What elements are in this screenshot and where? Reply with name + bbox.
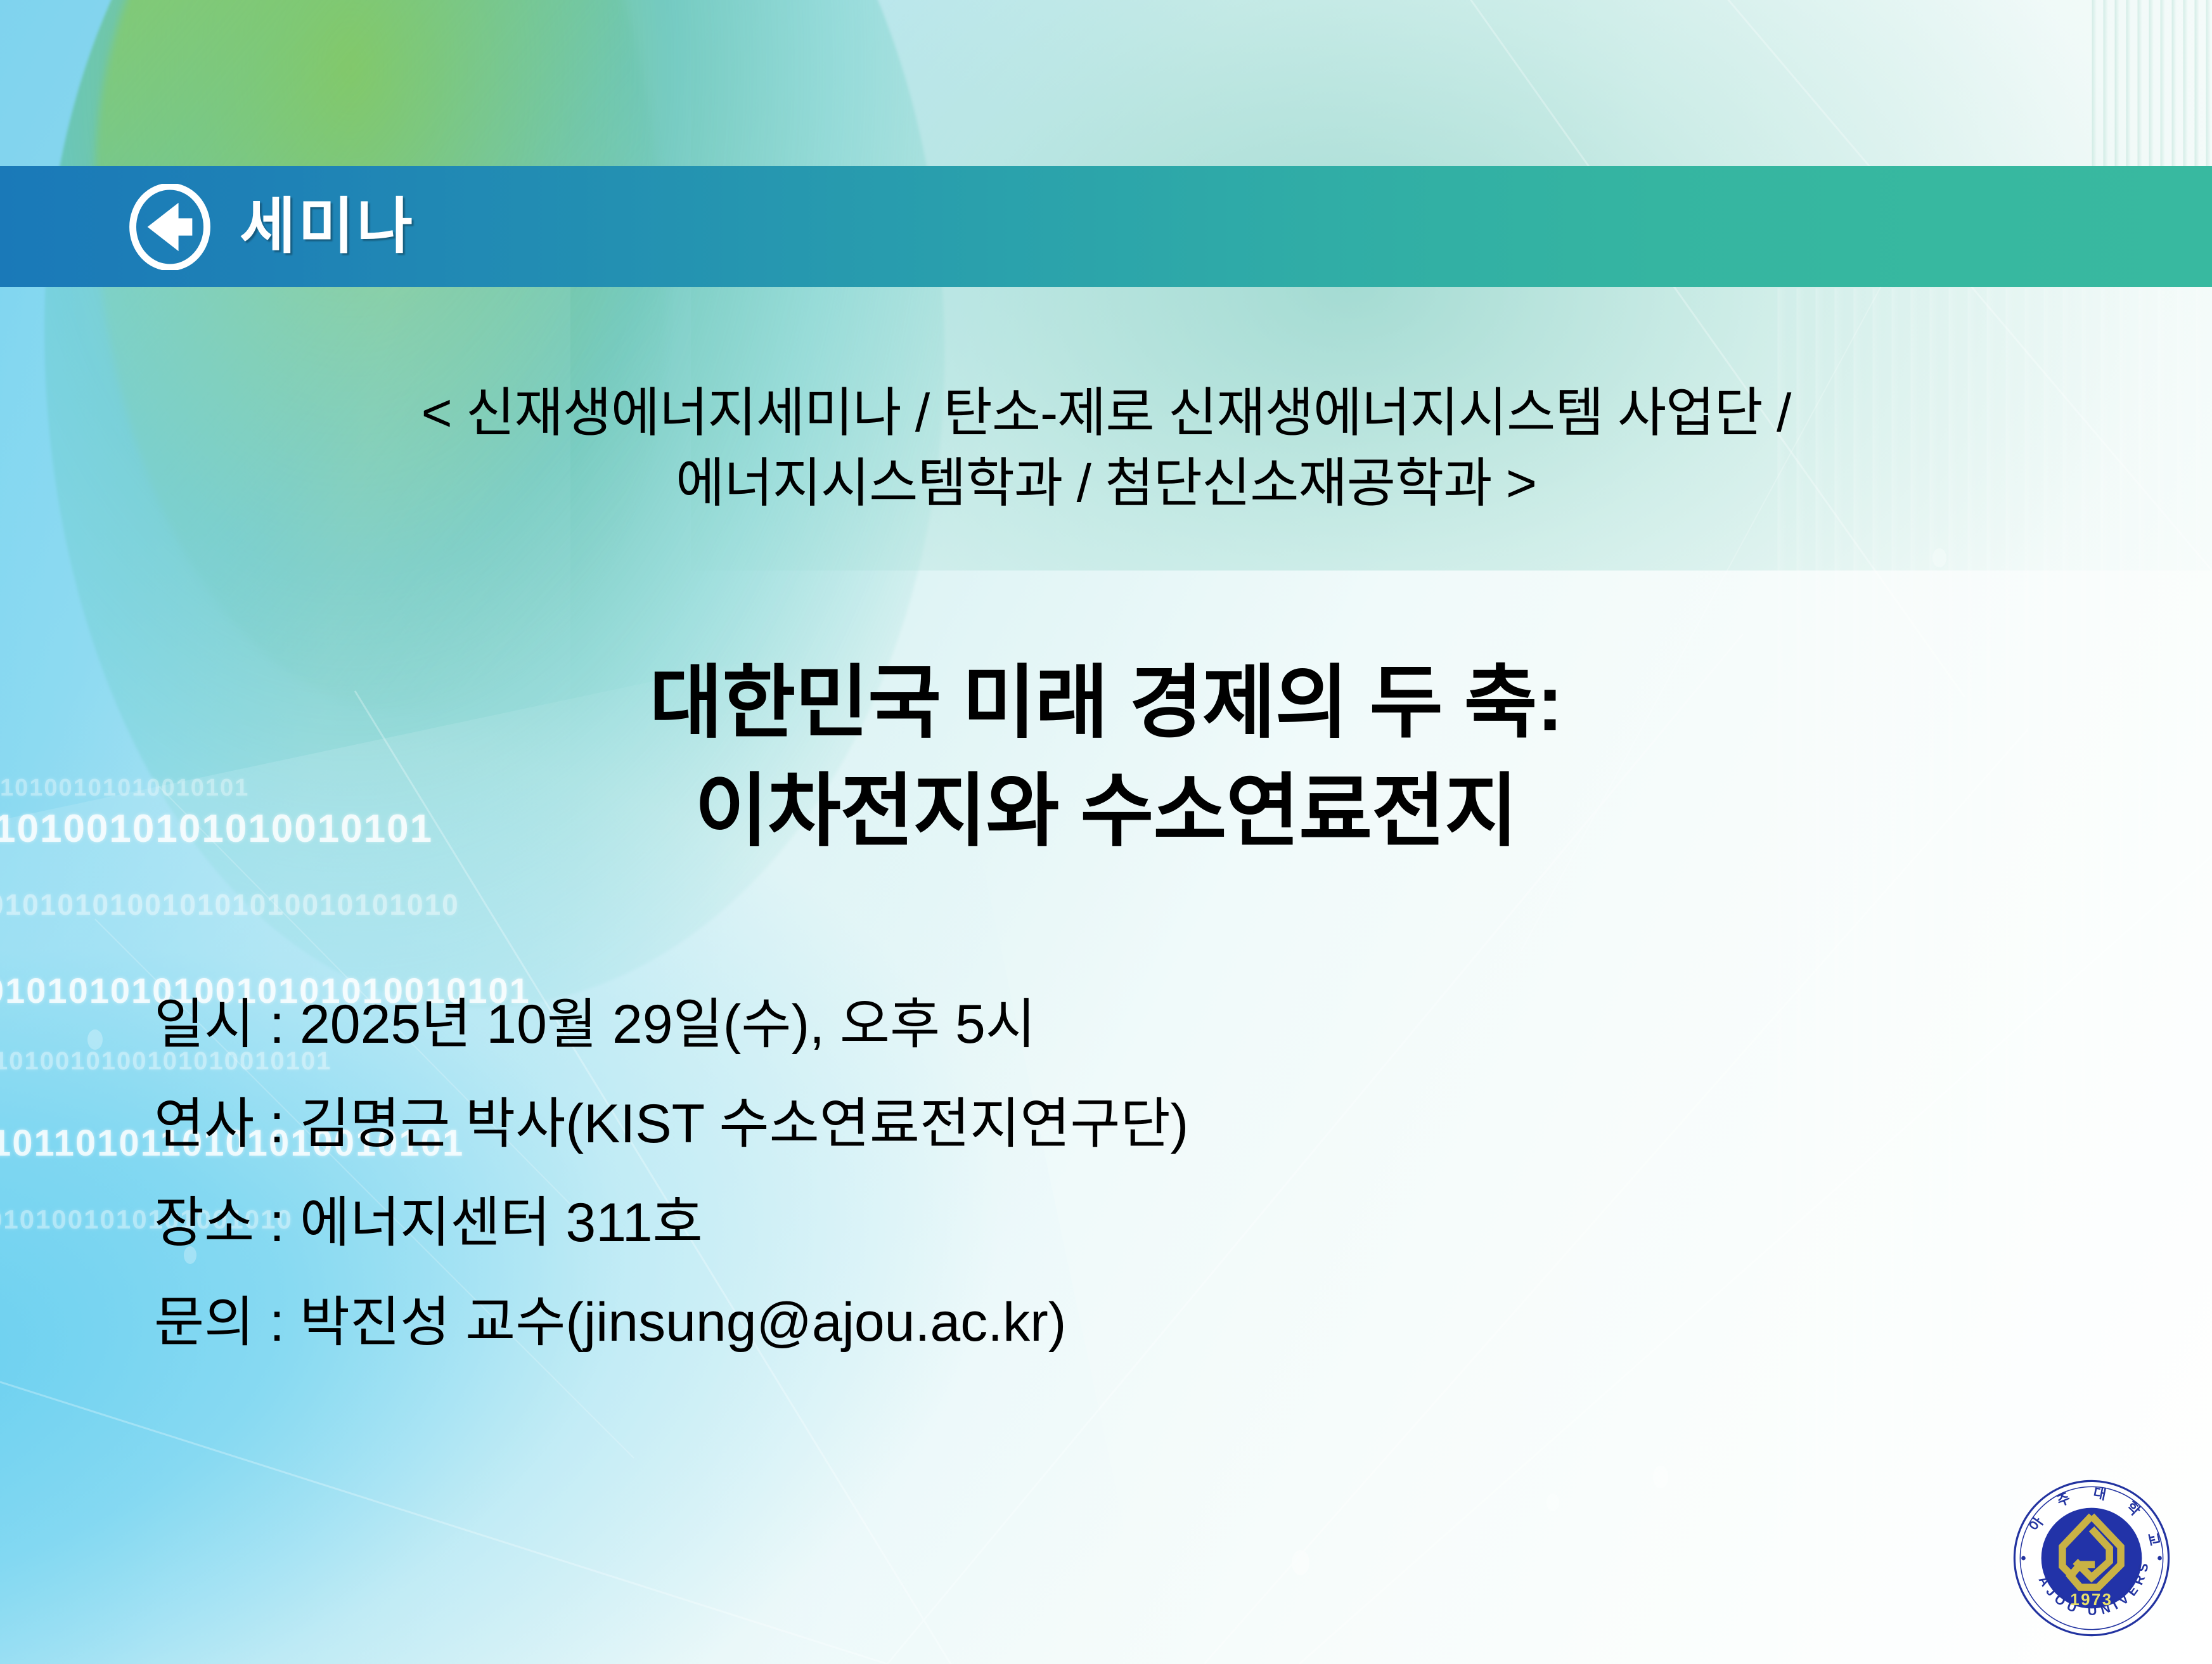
logo-year: 1973 bbox=[2070, 1591, 2112, 1609]
breadcrumb-line-1: < 신재생에너지세미나 / 탄소-제로 신재생에너지시스템 사업단 / bbox=[0, 378, 2212, 448]
detail-datetime: 일시 : 2025년 10월 29일(수), 오후 5시 bbox=[154, 975, 1188, 1074]
back-arrow-circle-icon[interactable] bbox=[127, 184, 213, 270]
poster-content: < 신재생에너지세미나 / 탄소-제로 신재생에너지시스템 사업단 / 에너지시… bbox=[0, 287, 2212, 1664]
background-top-streaks bbox=[2085, 0, 2212, 166]
seminar-poster: 10100101010010101 1010010101010010101 01… bbox=[0, 0, 2212, 1664]
breadcrumb: < 신재생에너지세미나 / 탄소-제로 신재생에너지시스템 사업단 / 에너지시… bbox=[0, 378, 2212, 519]
header-bar: 세미나 bbox=[0, 166, 2212, 287]
ajou-university-logo: 아 주 대 학 교 AJOU UNIVERSITY 1973 bbox=[2010, 1477, 2173, 1639]
breadcrumb-line-2: 에너지시스템학과 / 첨단신소재공학과 > bbox=[0, 448, 2212, 519]
header-title: 세미나 bbox=[240, 197, 415, 257]
title-line-1: 대한민국 미래 경제의 두 축: bbox=[0, 648, 2212, 757]
logo-seal-icon: 아 주 대 학 교 AJOU UNIVERSITY 1973 bbox=[2010, 1477, 2173, 1639]
detail-venue: 장소 : 에너지센터 311호 bbox=[154, 1173, 1188, 1273]
page-title: 대한민국 미래 경제의 두 축: 이차전지와 수소연료전지 bbox=[0, 648, 2212, 866]
detail-contact: 문의 : 박진성 교수(jinsung@ajou.ac.kr) bbox=[154, 1273, 1188, 1372]
header-content: 세미나 bbox=[127, 166, 415, 287]
detail-speaker: 연사 : 김명근 박사(KIST 수소연료전지연구단) bbox=[154, 1074, 1188, 1174]
seminar-details: 일시 : 2025년 10월 29일(수), 오후 5시 연사 : 김명근 박사… bbox=[154, 975, 1188, 1372]
title-line-2: 이차전지와 수소연료전지 bbox=[0, 757, 2212, 865]
